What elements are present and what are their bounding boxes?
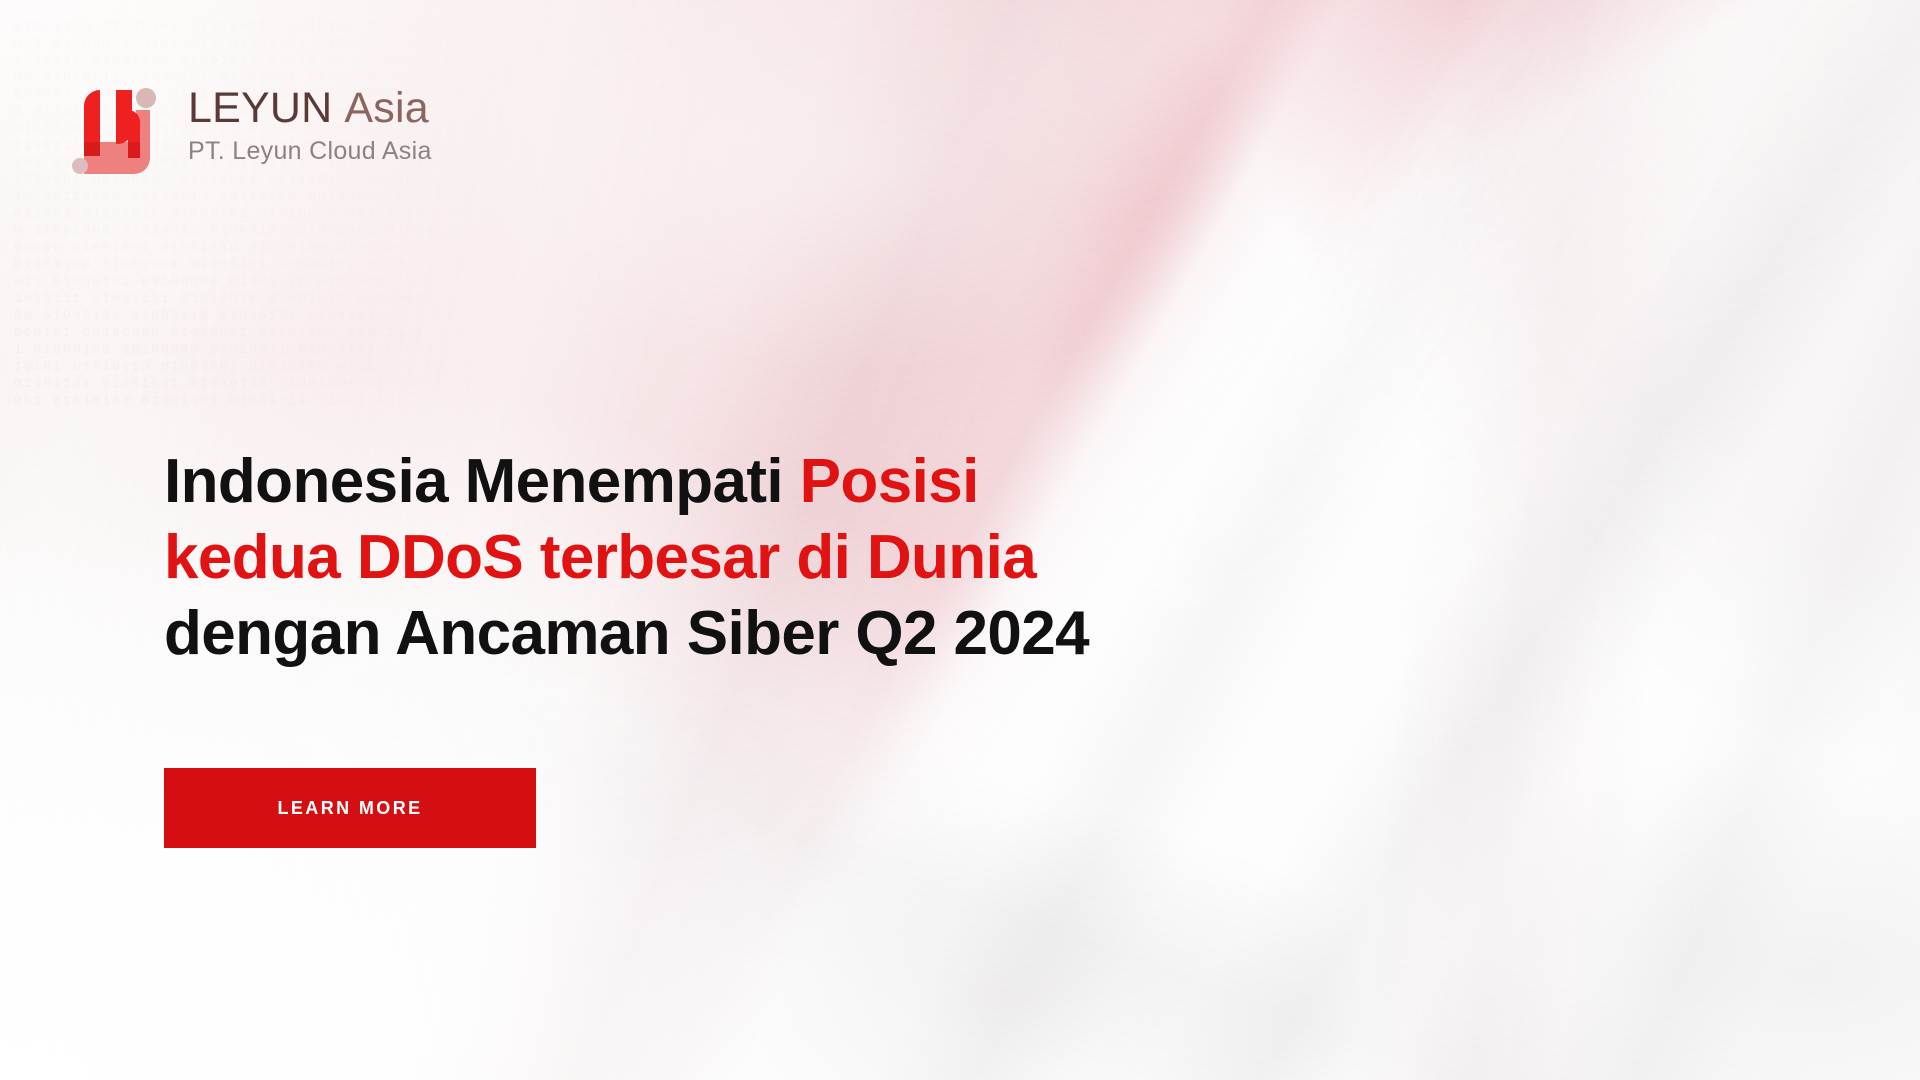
logo-brand-primary: LEYUN xyxy=(188,84,332,132)
hero-content: LEYUNAsia PT. Leyun Cloud Asia Indonesia… xyxy=(0,0,1920,1080)
learn-more-button[interactable]: LEARN MORE xyxy=(164,768,536,848)
brand-logo[interactable]: LEYUNAsia PT. Leyun Cloud Asia xyxy=(70,70,432,180)
headline-line-1: Indonesia Menempati Posisi xyxy=(164,444,1089,520)
headline-line-2: kedua DDoS terbesar di Dunia xyxy=(164,520,1089,596)
leyun-monogram-icon xyxy=(70,70,174,180)
headline-segment-1-1: Indonesia Menempati xyxy=(164,447,800,516)
headline-segment-3-1: dengan Ancaman Siber Q2 2024 xyxy=(164,599,1089,668)
logo-brand-line: LEYUNAsia xyxy=(188,83,432,133)
headline-line-3: dengan Ancaman Siber Q2 2024 xyxy=(164,596,1089,672)
logo-wordmark: LEYUNAsia PT. Leyun Cloud Asia xyxy=(188,83,432,167)
logo-tagline: PT. Leyun Cloud Asia xyxy=(188,135,432,167)
headline-segment-1-2: Posisi xyxy=(800,447,979,516)
logo-brand-secondary: Asia xyxy=(344,84,428,132)
hero-headline: Indonesia Menempati Posisikedua DDoS ter… xyxy=(164,444,1089,672)
hero-banner: 01001100 01000101 01011001 01010101 0100… xyxy=(0,0,1920,1080)
headline-segment-2-1: kedua DDoS terbesar di Dunia xyxy=(164,523,1036,592)
